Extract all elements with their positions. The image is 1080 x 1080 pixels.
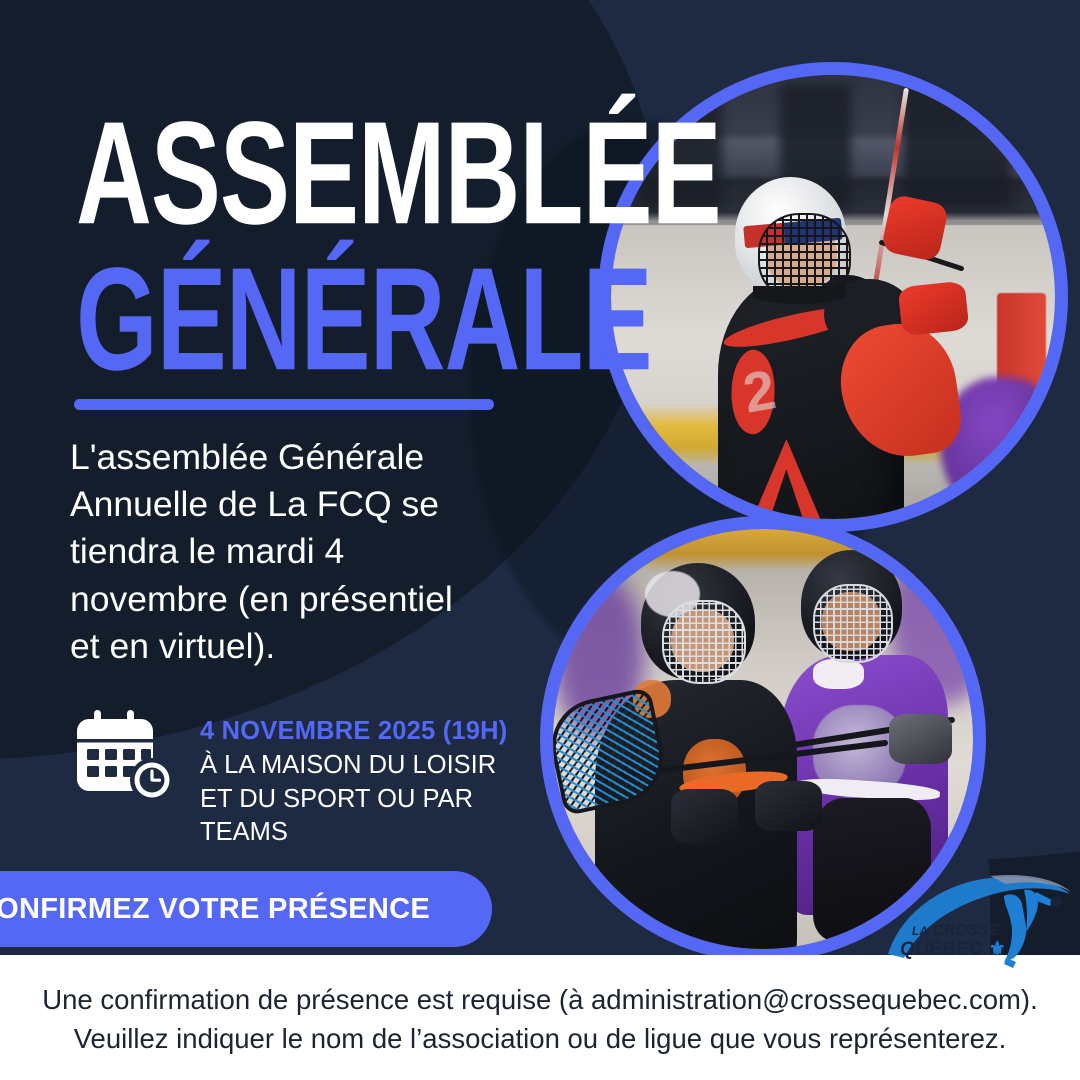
event-date-time: 4 NOVEMBRE 2025 (19H) [200,716,524,746]
logo-line-1: LA CROSSE [900,923,1006,939]
purple-player-glove [889,714,952,764]
title-divider [74,399,494,410]
calendar-clock-icon [74,706,182,810]
purple-player-facemask [813,584,893,664]
black-player-glove-right [755,781,822,831]
purple-player-collar [813,659,863,688]
headline-line-1: ASSEMBLÉE [76,104,647,243]
poster-canvas: 2 [0,0,1080,1080]
footer-note-line-2: Veuillez indiquer le nom de l’associatio… [0,1019,1080,1058]
logo-line-2: QUÉBEC ⚜ [900,940,1006,960]
confirm-attendance-button[interactable]: CONFIRMEZ VOTRE PRÉSENCE [0,871,492,947]
event-venue: À LA MAISON DU LOISIR ET DU SPORT OU PAR… [200,749,524,850]
logo-wordmark: LA CROSSE QUÉBEC ⚜ [900,923,1006,960]
logo-crosse: CROSSE [933,922,1000,939]
black-player-glove-left [671,789,738,844]
footer-note-line-1: Une confirmation de présence est requise… [0,980,1080,1019]
black-player-facemask [662,600,746,684]
event-details-text: 4 NOVEMBRE 2025 (19H) À LA MAISON DU LOI… [200,704,524,850]
event-details-block: 4 NOVEMBRE 2025 (19H) À LA MAISON DU LOI… [74,704,524,850]
page-title: ASSEMBLÉE GÉNÉRALE [76,104,636,348]
confirm-attendance-label: CONFIRMEZ VOTRE PRÉSENCE [0,893,430,926]
logo-quebec: QUÉBEC [900,939,983,960]
footer-note: Une confirmation de présence est requise… [0,980,1080,1058]
logo-la-crosse-quebec: LA CROSSE QUÉBEC ⚜ [886,866,1072,974]
glove-lower-red [897,280,968,336]
crowd-blur-right [904,84,1011,208]
logo-la: LA [912,926,928,938]
helmet-chinstrap [753,286,846,304]
jersey-number: 2 [739,349,821,431]
body-paragraph: L'assemblée Générale Annuelle de La FCQ … [70,434,490,670]
fleur-de-lis-icon: ⚜ [989,939,1006,960]
headline-line-2: GÉNÉRALE [76,250,647,389]
